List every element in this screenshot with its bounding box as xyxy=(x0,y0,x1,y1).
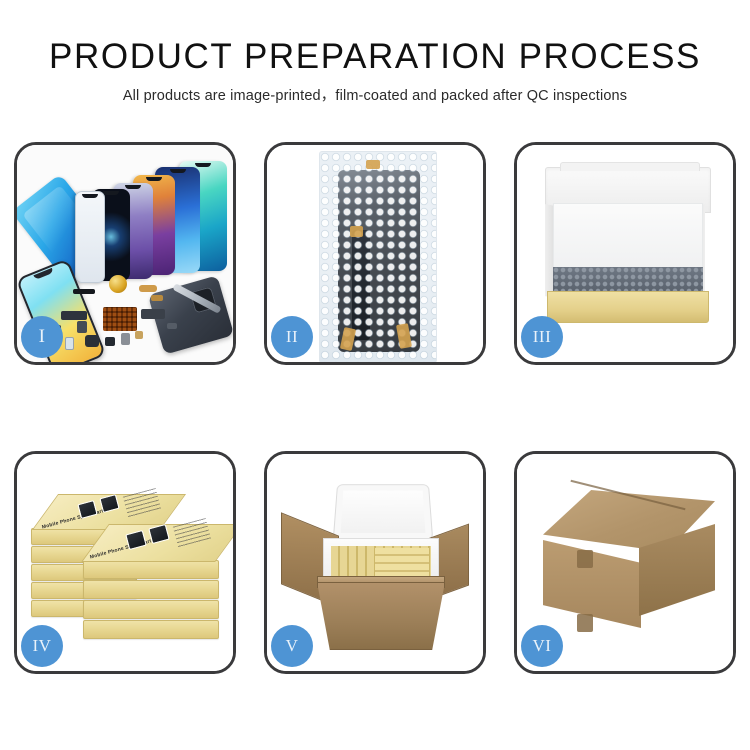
bubble-texture xyxy=(320,152,436,362)
spare-part-icon xyxy=(85,335,99,347)
step-panel-3[interactable]: III xyxy=(514,142,736,365)
step-panel-6[interactable]: VI xyxy=(514,451,736,674)
notch-icon xyxy=(146,177,162,181)
spare-part-icon xyxy=(151,295,163,301)
step-badge-1: I xyxy=(21,316,63,358)
bubble-wrap-bag-icon xyxy=(319,151,437,362)
header: PRODUCT PREPARATION PROCESS All products… xyxy=(0,36,750,106)
spare-part-icon xyxy=(135,331,143,339)
packed-yellow-boxes-icon xyxy=(331,546,431,580)
speaker-module-icon xyxy=(109,275,127,293)
step-badge-4: IV xyxy=(21,625,63,667)
notch-icon xyxy=(82,194,98,198)
step-panel-2[interactable]: II xyxy=(264,142,486,365)
carton-tape-icon xyxy=(577,550,593,568)
tape-icon xyxy=(366,160,380,169)
product-preparation-process-infographic: PRODUCT PREPARATION PROCESS All products… xyxy=(0,0,750,750)
spare-part-icon xyxy=(139,285,157,292)
step-panel-1[interactable]: I xyxy=(14,142,236,365)
spare-part-icon xyxy=(77,321,87,333)
tape-icon xyxy=(350,226,363,237)
spare-part-icon xyxy=(121,333,130,345)
retail-box xyxy=(83,560,219,579)
notch-icon xyxy=(195,163,211,167)
foam-cooler-lid-icon xyxy=(333,484,433,540)
process-steps-grid: I II xyxy=(14,142,736,674)
logic-board-icon xyxy=(103,307,137,331)
yellow-box-front-icon xyxy=(547,291,709,323)
yellow-box-rows xyxy=(375,548,429,578)
carton-body xyxy=(317,582,445,650)
packed-screens-icon xyxy=(553,267,703,293)
phone-display-stack xyxy=(75,161,233,281)
spare-part-icon xyxy=(141,309,165,319)
retail-box xyxy=(83,620,219,639)
spare-part-icon xyxy=(73,289,95,294)
spare-part-icon xyxy=(105,337,115,346)
step-badge-5: V xyxy=(271,625,313,667)
step-panel-4[interactable]: Mobile Phone Spare Parts Mobile Phone Sp… xyxy=(14,451,236,674)
page-subtitle: All products are image-printed，film-coat… xyxy=(0,86,750,106)
retail-box xyxy=(83,600,219,619)
notch-icon xyxy=(103,191,119,195)
retail-box xyxy=(83,580,219,599)
spare-part-icon xyxy=(167,323,177,329)
carton-tape-icon xyxy=(577,614,593,632)
step-badge-3: III xyxy=(521,316,563,358)
foam-padding-icon xyxy=(553,203,703,269)
page-title: PRODUCT PREPARATION PROCESS xyxy=(0,36,750,78)
step-badge-2: II xyxy=(271,316,313,358)
notch-icon xyxy=(170,169,186,173)
step-badge-6: VI xyxy=(521,625,563,667)
spare-part-icon xyxy=(61,311,87,320)
tempered-glass-icon xyxy=(75,191,105,283)
spare-part-icon xyxy=(65,337,74,350)
step-panel-5[interactable]: V xyxy=(264,451,486,674)
